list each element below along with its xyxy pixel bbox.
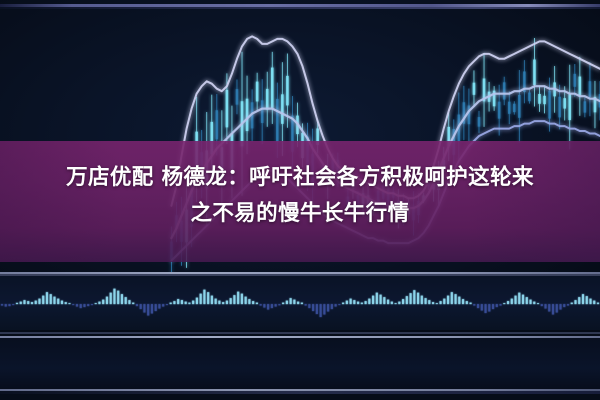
panel-separator-mid-shadow [0,332,600,334]
headline-line-1: 万店优配 杨德龙：呼吁社会各方积极呵护这轮来 [66,165,534,190]
macd-histogram-panel [0,276,600,330]
bottom-edge-line [0,391,600,394]
page-title: 万店优配 杨德龙：呼吁社会各方积极呵护这轮来 之不易的慢牛长牛行情 [0,160,600,232]
headline-line-2: 之不易的慢牛长牛行情 [14,196,586,232]
stock-chart-banner: 万店优配 杨德龙：呼吁社会各方积极呵护这轮来 之不易的慢牛长牛行情 [0,0,600,400]
macd-histogram-svg [0,276,600,330]
momentum-line-panel [0,338,600,389]
momentum-line-svg [0,338,600,389]
